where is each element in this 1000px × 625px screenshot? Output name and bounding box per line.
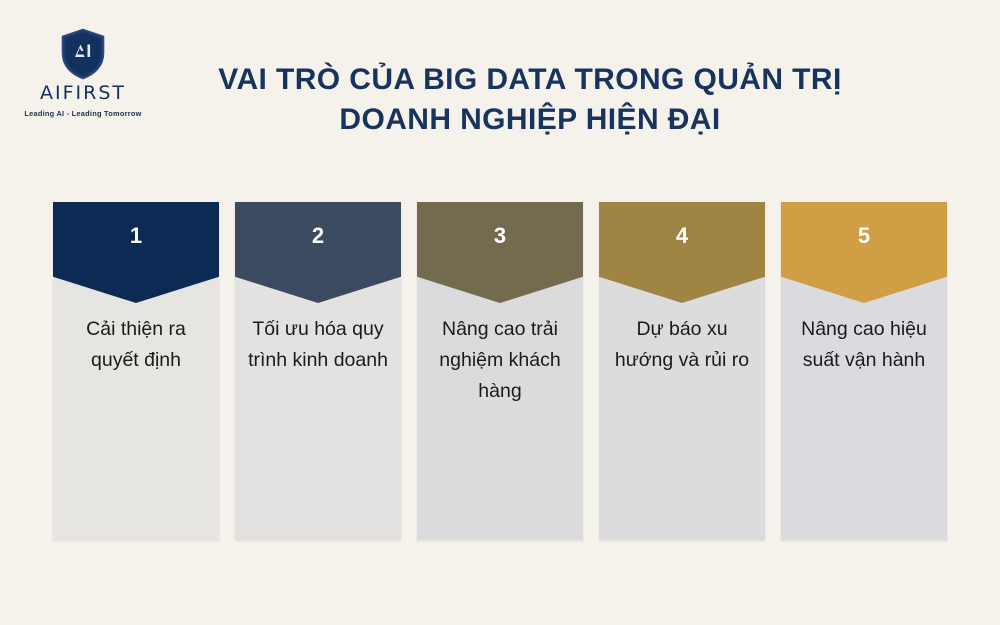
brand-logo: AIFIRST Leading AI - Leading Tomorrow — [18, 28, 148, 117]
card-3: 3 Nâng cao trải nghiệm khách hàng — [417, 202, 583, 540]
card-5-number: 5 — [858, 225, 870, 247]
card-3-body: Nâng cao trải nghiệm khách hàng — [417, 276, 583, 540]
card-1-label: Cải thiện ra quyết định — [86, 318, 186, 371]
card-3-number: 3 — [494, 225, 506, 247]
card-5: 5 Nâng cao hiệu suất vận hành — [781, 202, 947, 540]
card-2-number: 2 — [312, 225, 324, 247]
card-3-label: Nâng cao trải nghiệm khách hàng — [439, 318, 560, 402]
card-2-label: Tối ưu hóa quy trình kinh doanh — [248, 318, 388, 371]
card-4-label: Dự báo xu hướng và rủi ro — [615, 318, 749, 371]
card-1: 1 Cải thiện ra quyết định — [53, 202, 219, 540]
card-2: 2 Tối ưu hóa quy trình kinh doanh — [235, 202, 401, 540]
card-1-body: Cải thiện ra quyết định — [53, 276, 219, 540]
card-5-body: Nâng cao hiệu suất vận hành — [781, 276, 947, 540]
card-2-body: Tối ưu hóa quy trình kinh doanh — [235, 276, 401, 540]
card-4-number: 4 — [676, 225, 688, 247]
ai-shield-icon — [60, 28, 106, 80]
card-4: 4 Dự báo xu hướng và rủi ro — [599, 202, 765, 540]
card-list: 1 Cải thiện ra quyết định 2 Tối ưu hóa q… — [53, 202, 947, 540]
brand-name: AIFIRST — [18, 84, 148, 103]
card-4-body: Dự báo xu hướng và rủi ro — [599, 276, 765, 540]
card-1-number: 1 — [130, 225, 142, 247]
brand-tagline: Leading AI - Leading Tomorrow — [18, 110, 148, 117]
page-header: AIFIRST Leading AI - Leading Tomorrow VA… — [0, 0, 1000, 185]
page-title: VAI TRÒ CỦA BIG DATA TRONG QUẢN TRỊ DOAN… — [165, 60, 895, 140]
card-5-label: Nâng cao hiệu suất vận hành — [801, 318, 927, 371]
